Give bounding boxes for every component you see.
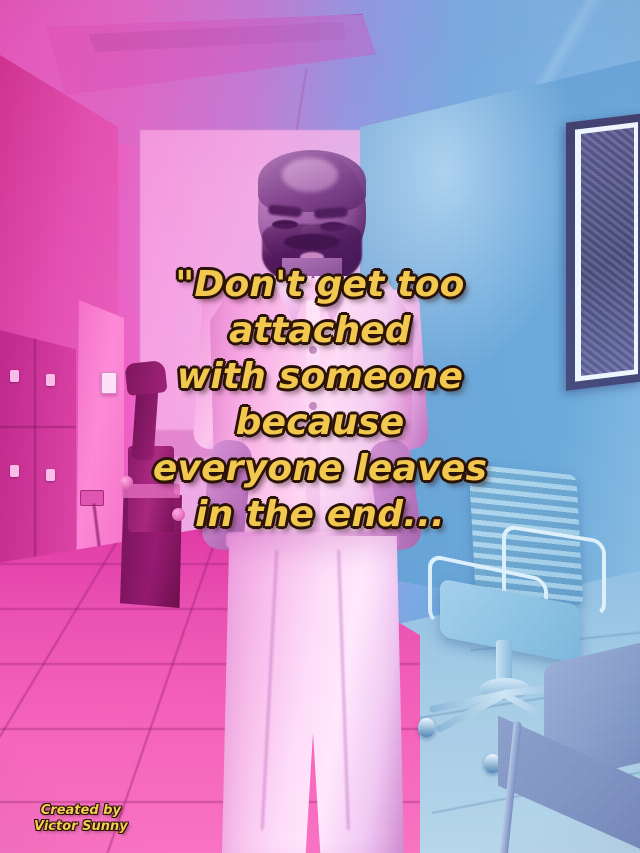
quote-line-3: with someone — [18, 354, 622, 400]
quote-text-block: "Don't get too attached with someone bec… — [0, 262, 640, 538]
watermark-line-1: Created by — [34, 803, 128, 819]
second-chair — [498, 653, 640, 853]
person-forehead — [282, 158, 338, 192]
quote-line-4: because — [18, 400, 622, 446]
tile-line — [0, 534, 122, 818]
quote-image-card: "Don't get too attached with someone bec… — [0, 0, 640, 853]
quote-line-1: "Don't get too — [18, 262, 622, 308]
person-trousers — [222, 536, 404, 853]
watermark: Created by Victor Sunny — [34, 803, 128, 835]
person-mustache — [284, 234, 340, 250]
quote-line-2: attached — [18, 308, 622, 354]
quote-line-6: in the end... — [18, 492, 622, 538]
watermark-line-2: Victor Sunny — [34, 819, 128, 835]
quote-line-5: everyone leaves — [18, 446, 622, 492]
